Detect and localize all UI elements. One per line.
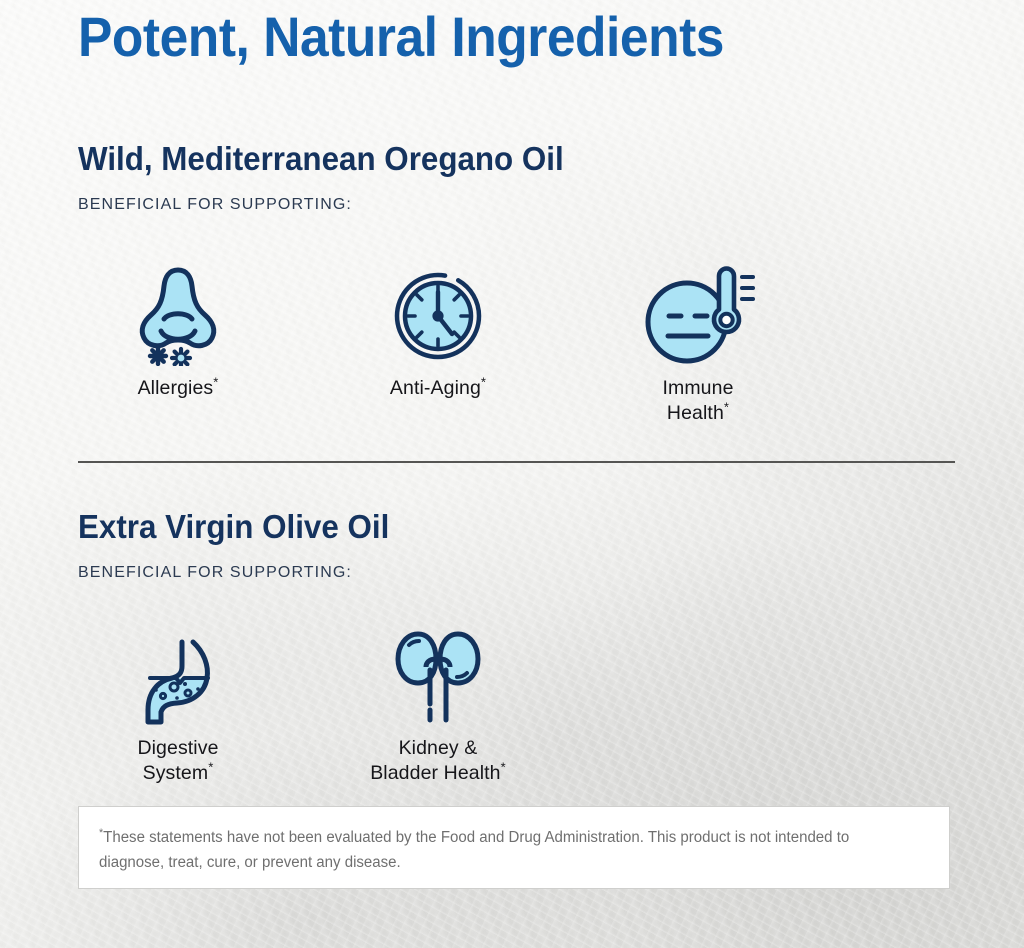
benefit-label-line1: Anti-Aging (390, 377, 481, 399)
kidneys-icon (338, 618, 538, 726)
section-divider (78, 461, 955, 463)
footnote-marker: * (213, 375, 218, 390)
benefit-label-line1: Kidney & (399, 737, 478, 759)
benefit-label-kidney-bladder-health: Kidney & Bladder Health* (338, 736, 538, 786)
disclaimer-box: *These statements have not been evaluate… (78, 806, 950, 889)
section-heading-olive-oil: Extra Virgin Olive Oil (78, 508, 389, 546)
footnote-marker: * (481, 375, 486, 390)
benefit-label-line1: Digestive (137, 737, 218, 759)
footnote-marker: * (501, 760, 506, 775)
benefit-label-line1: Immune (662, 377, 733, 399)
sick-face-thermometer-icon (598, 258, 798, 366)
benefit-item-kidney-bladder-health: Kidney & Bladder Health* (338, 618, 538, 786)
nose-allergy-icon (78, 258, 278, 366)
benefit-item-digestive-system: Digestive System* (78, 618, 278, 786)
benefit-label-line1: Allergies (138, 377, 214, 399)
benefit-label-line2: Bladder Health (370, 762, 500, 784)
section-subheading-oregano-oil: BENEFICIAL FOR SUPPORTING: (78, 196, 352, 214)
benefit-label-immune-health: Immune Health* (598, 376, 798, 426)
benefit-item-anti-aging: Anti-Aging* (338, 258, 538, 401)
benefit-item-allergies: Allergies* (78, 258, 278, 401)
stomach-icon (78, 618, 278, 726)
benefit-label-line2: System (143, 762, 209, 784)
section-heading-oregano-oil: Wild, Mediterranean Oregano Oil (78, 140, 564, 178)
disclaimer-body: These statements have not been evaluated… (99, 829, 849, 871)
clock-icon (338, 258, 538, 366)
footnote-marker: * (208, 760, 213, 775)
benefit-label-anti-aging: Anti-Aging* (338, 376, 538, 401)
page-title: Potent, Natural Ingredients (78, 4, 724, 69)
infographic-content: Potent, Natural Ingredients Wild, Medite… (0, 0, 1024, 948)
benefit-label-line2: Health (667, 402, 724, 424)
disclaimer-text: *These statements have not been evaluate… (99, 825, 904, 875)
footnote-marker: * (724, 400, 729, 415)
benefit-label-allergies: Allergies* (78, 376, 278, 401)
section-subheading-olive-oil: BENEFICIAL FOR SUPPORTING: (78, 564, 352, 582)
benefit-item-immune-health: Immune Health* (598, 258, 798, 426)
benefit-label-digestive-system: Digestive System* (78, 736, 278, 786)
